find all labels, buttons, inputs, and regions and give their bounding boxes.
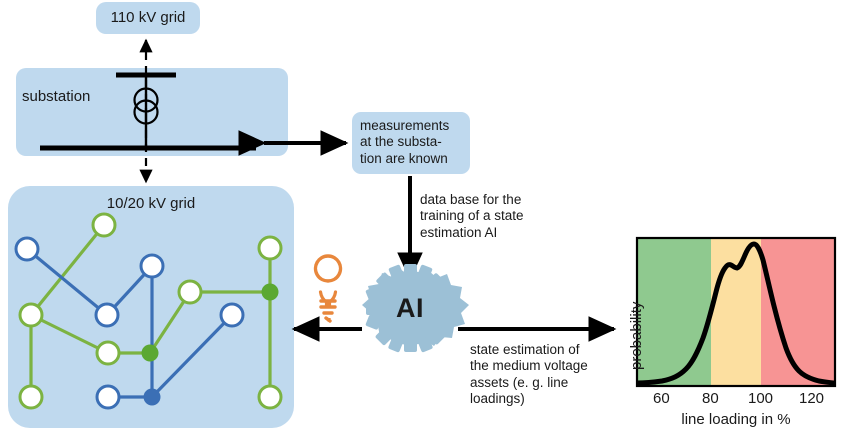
chart-xtick-1: 80	[702, 390, 719, 407]
band-overload	[761, 238, 835, 386]
chart-ylabel: probability	[628, 302, 645, 370]
green-filled-node	[262, 284, 279, 301]
blue-lines	[27, 249, 232, 397]
diagram-canvas: 110 kV grid substation 10/20 kV grid mea…	[0, 0, 842, 435]
ai-node-label: AI	[373, 293, 447, 324]
band-safe	[637, 238, 711, 386]
green-filled-node	[142, 345, 159, 362]
chart-bands	[637, 238, 835, 386]
diagram-vector-layer	[0, 0, 842, 435]
lightbulb-icon	[316, 256, 341, 322]
chart-xtick-3: 120	[799, 390, 824, 407]
chart-xtick-2: 100	[748, 390, 773, 407]
chart-xlabel: line loading in %	[637, 411, 835, 428]
probability-chart	[637, 238, 835, 386]
chart-xtick-0: 60	[653, 390, 670, 407]
substation-single-line-diagram	[40, 75, 256, 148]
band-warning	[711, 238, 761, 386]
blue-filled-node	[144, 389, 161, 406]
mv-grid-network	[16, 214, 281, 408]
